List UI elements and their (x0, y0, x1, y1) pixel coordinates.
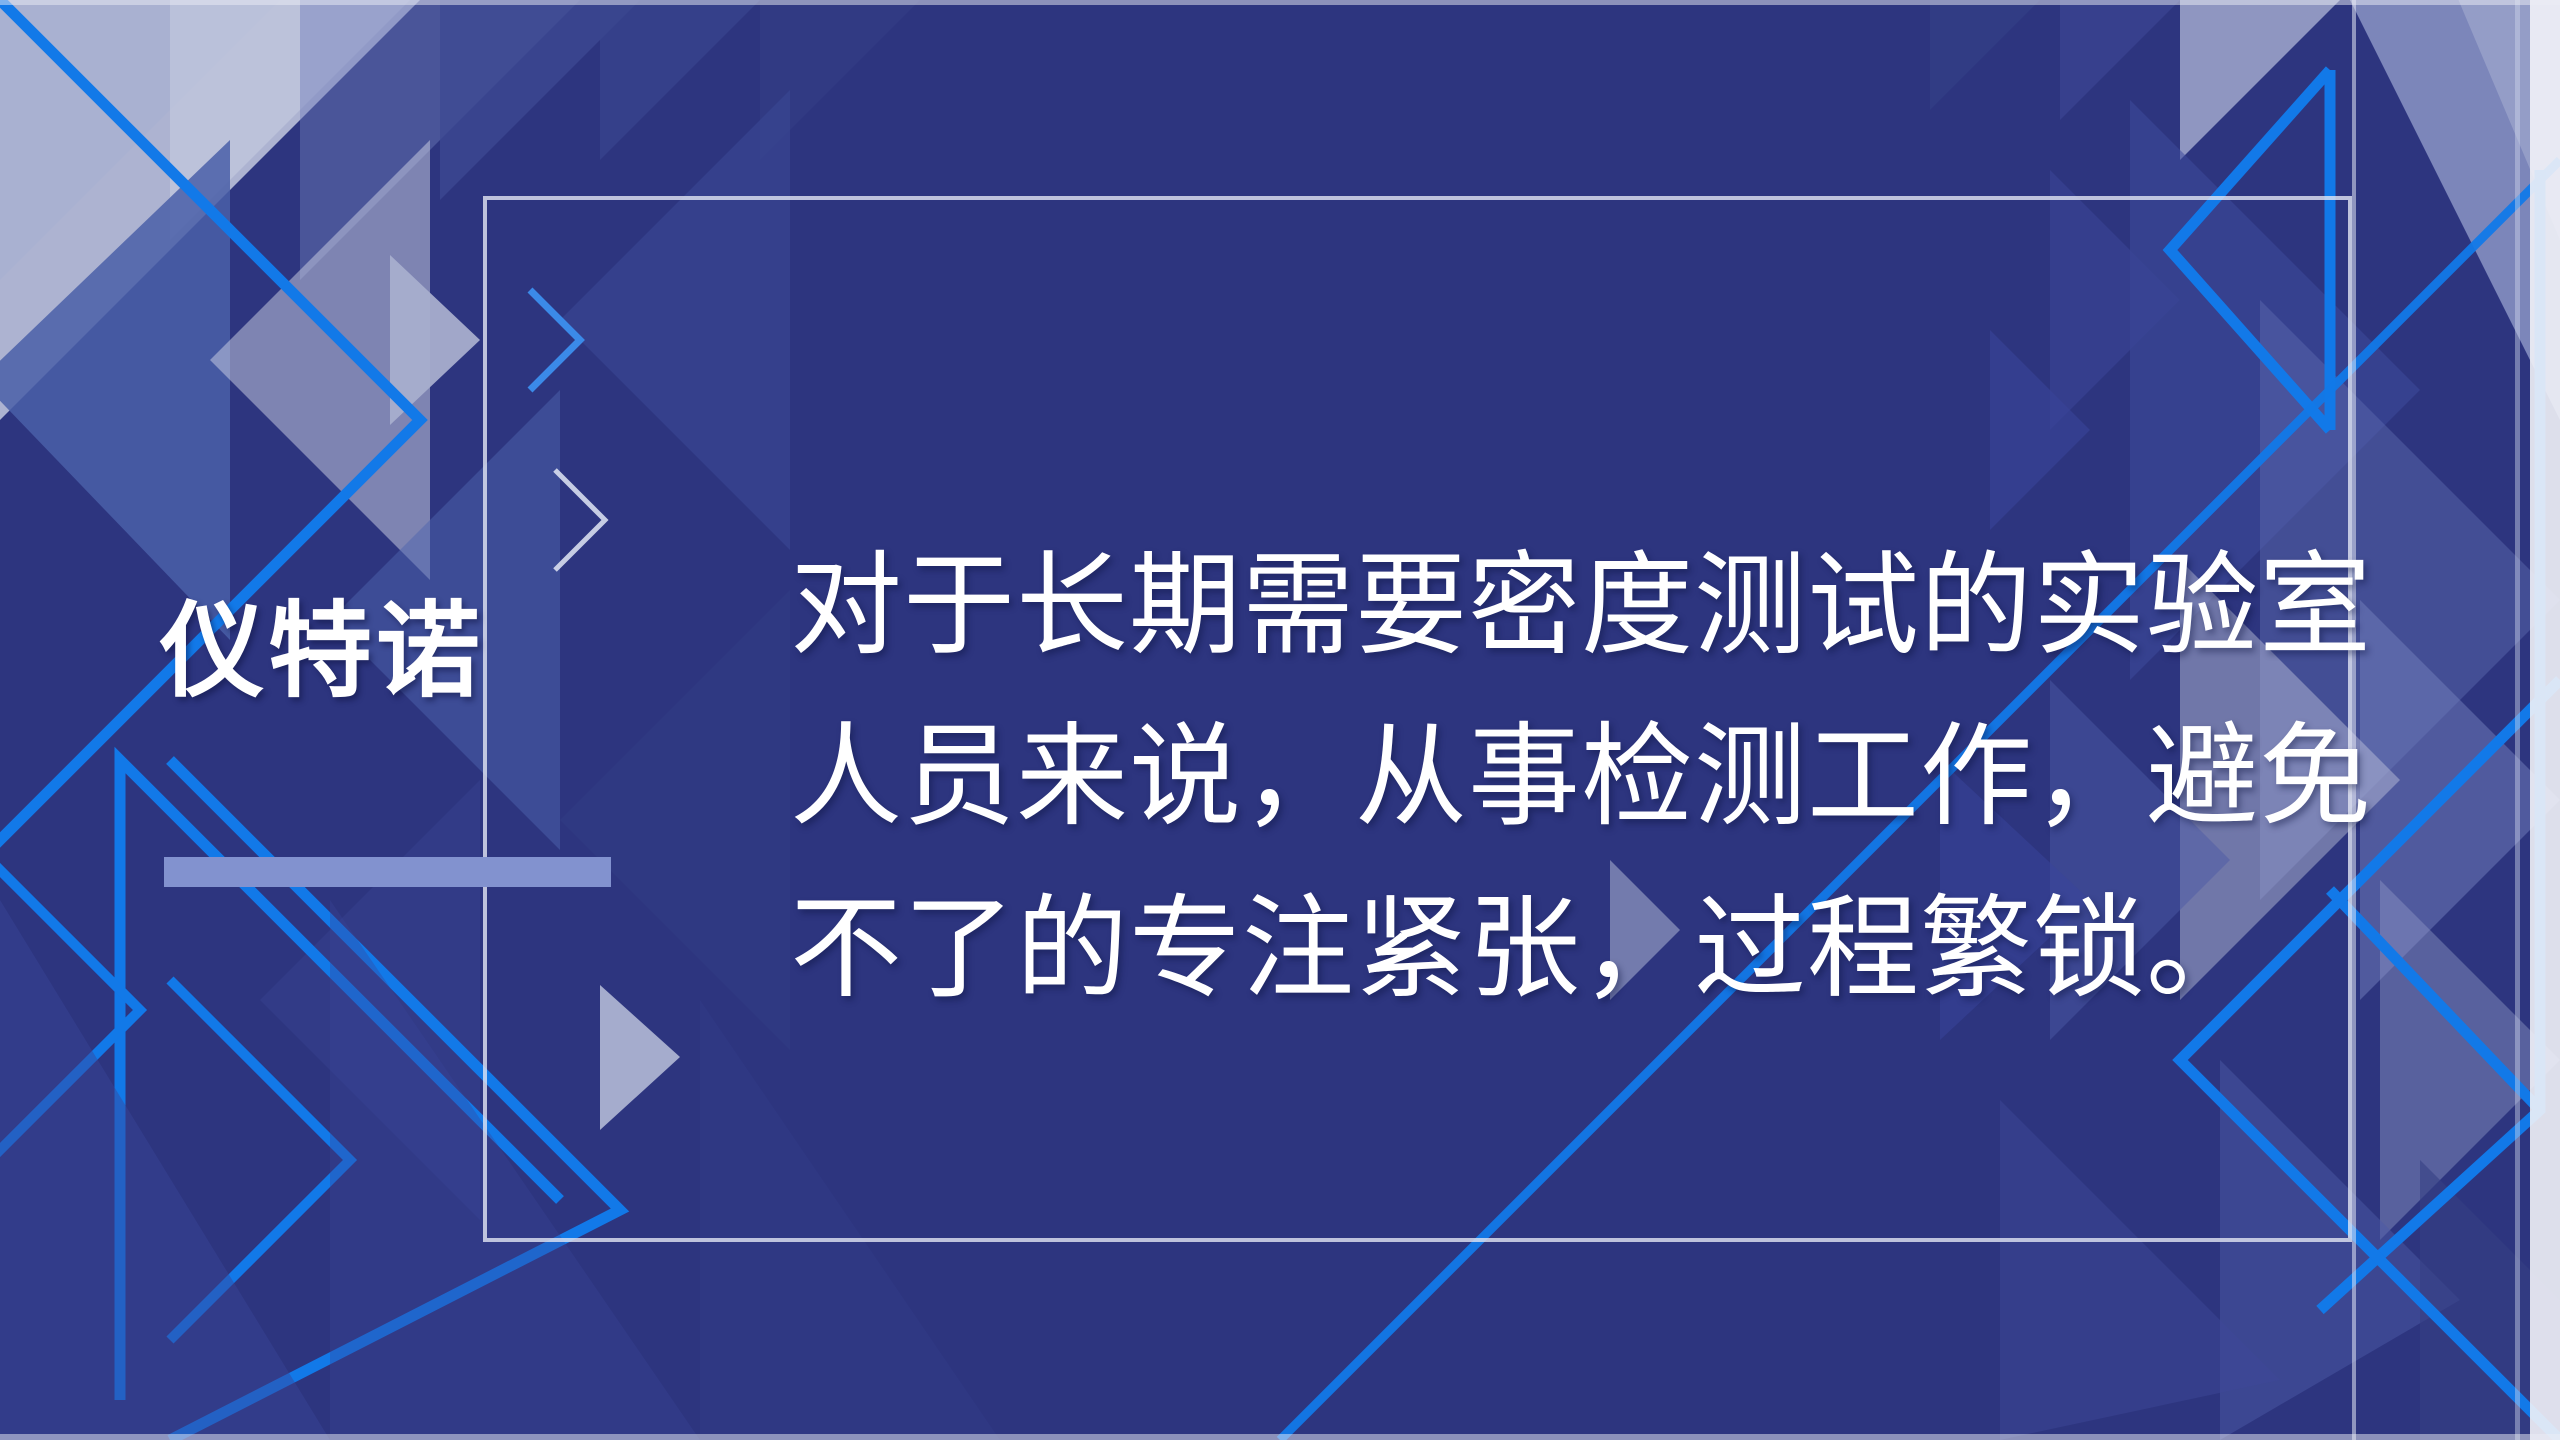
title-underline-bar (164, 857, 611, 887)
body-line-3: 不了的专注紧张，过程繁锁。 (790, 863, 2290, 1034)
body-line-1: 对于长期需要密度测试的实验室 (790, 520, 2290, 691)
title-block: 仪特诺 (160, 598, 640, 887)
body-paragraph: 对于长期需要密度测试的实验室 人员来说，从事检测工作，避免 不了的专注紧张，过程… (790, 520, 2290, 1034)
body-line-2: 人员来说，从事检测工作，避免 (790, 691, 2290, 862)
slide-canvas: 仪特诺 对于长期需要密度测试的实验室 人员来说，从事检测工作，避免 不了的专注紧… (0, 0, 2560, 1440)
brand-title: 仪特诺 (160, 598, 640, 707)
